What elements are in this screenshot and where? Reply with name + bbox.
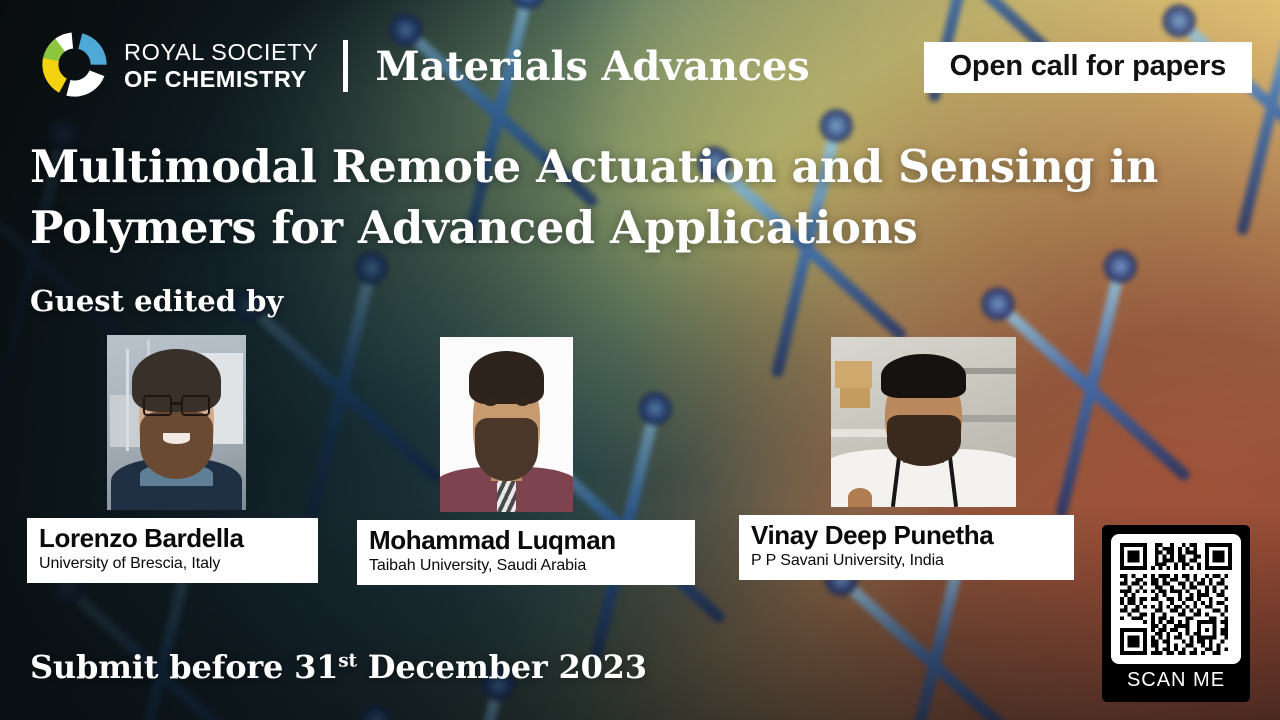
editor-photo-1 bbox=[107, 335, 246, 510]
editor-namecard-1: Lorenzo Bardella University of Brescia, … bbox=[27, 518, 318, 583]
portrait-scene bbox=[831, 337, 1016, 507]
submission-deadline: Submit before 31st December 2023 bbox=[30, 648, 647, 686]
editor-card-1: Lorenzo Bardella University of Brescia, … bbox=[27, 335, 318, 583]
qr-code-icon[interactable] bbox=[1111, 534, 1241, 664]
editor-card-3: Vinay Deep Punetha P P Savani University… bbox=[739, 337, 1074, 580]
guest-edited-label: Guest edited by bbox=[30, 284, 283, 318]
editor-name: Vinay Deep Punetha bbox=[751, 522, 1062, 549]
rsc-line-1: ROYAL SOCIETY bbox=[124, 41, 319, 65]
editor-name: Mohammad Luqman bbox=[369, 527, 683, 554]
deadline-ordinal: st bbox=[338, 650, 357, 671]
editor-affiliation: University of Brescia, Italy bbox=[39, 555, 306, 573]
theme-title: Multimodal Remote Actuation and Sensing … bbox=[30, 137, 1160, 259]
branding-divider bbox=[343, 40, 348, 92]
editor-photo-2 bbox=[440, 337, 573, 512]
deadline-suffix: December 2023 bbox=[357, 648, 647, 686]
journal-title: Materials Advances bbox=[376, 43, 810, 90]
editor-namecard-3: Vinay Deep Punetha P P Savani University… bbox=[739, 515, 1074, 580]
editor-photo-3 bbox=[831, 337, 1016, 507]
editor-card-2: Mohammad Luqman Taibah University, Saudi… bbox=[357, 337, 695, 585]
call-for-papers-poster: ROYAL SOCIETY OF CHEMISTRY Materials Adv… bbox=[0, 0, 1280, 720]
publisher-branding: ROYAL SOCIETY OF CHEMISTRY Materials Adv… bbox=[38, 28, 809, 104]
rsc-wordmark: ROYAL SOCIETY OF CHEMISTRY bbox=[124, 41, 319, 91]
portrait-scene bbox=[107, 335, 246, 510]
open-call-badge[interactable]: Open call for papers bbox=[924, 42, 1252, 93]
editor-namecard-2: Mohammad Luqman Taibah University, Saudi… bbox=[357, 520, 695, 585]
qr-code-block[interactable]: SCAN ME bbox=[1102, 525, 1250, 702]
rsc-circle-c-logo-icon bbox=[38, 28, 111, 104]
editor-affiliation: P P Savani University, India bbox=[751, 552, 1062, 570]
editor-name: Lorenzo Bardella bbox=[39, 525, 306, 552]
rsc-line-2: OF CHEMISTRY bbox=[124, 68, 319, 92]
deadline-prefix: Submit before 31 bbox=[30, 648, 338, 686]
editor-affiliation: Taibah University, Saudi Arabia bbox=[369, 557, 683, 575]
qr-scan-me-label: SCAN ME bbox=[1127, 664, 1225, 699]
portrait-scene bbox=[440, 337, 573, 512]
